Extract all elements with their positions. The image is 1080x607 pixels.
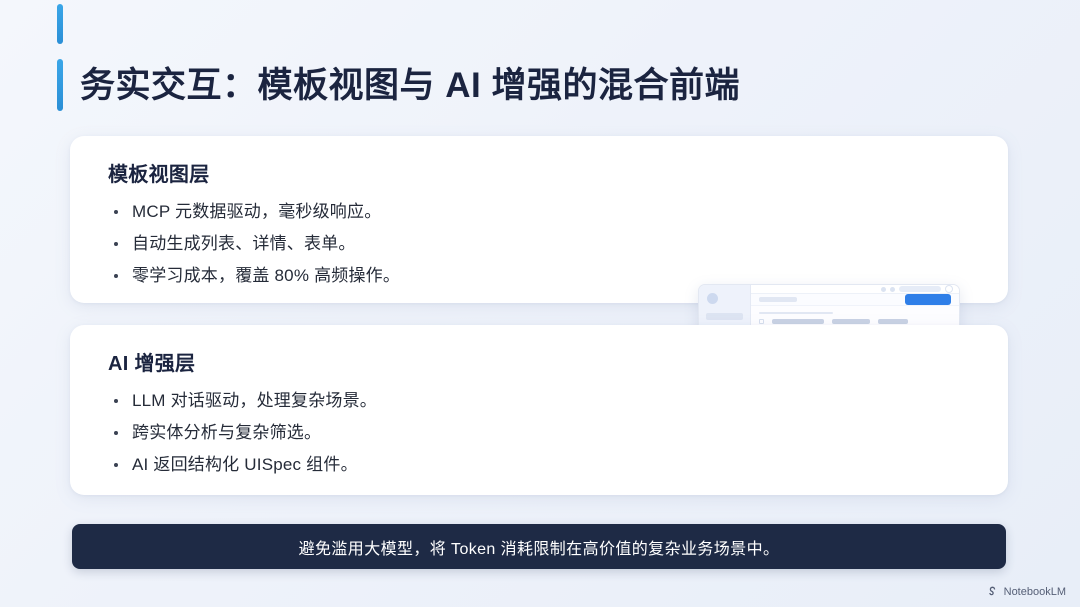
list-item: LLM 对话驱动，处理复杂场景。 <box>108 390 628 412</box>
avatar[interactable] <box>945 285 953 293</box>
column-header-owner <box>832 319 870 324</box>
search-icon[interactable] <box>881 287 886 292</box>
card-body: 模板视图层 MCP 元数据驱动，毫秒级响应。 自动生成列表、详情、表单。 零学习… <box>108 158 628 297</box>
footer-text: 避免滥用大模型，将 Token 消耗限制在高价值的复杂业务场景中。 <box>299 535 780 559</box>
search-input[interactable] <box>759 312 833 314</box>
column-header-status <box>878 319 908 324</box>
list-item: 自动生成列表、详情、表单。 <box>108 233 628 255</box>
card-template-view-layer: 模板视图层 MCP 元数据驱动，毫秒级响应。 自动生成列表、详情、表单。 零学习… <box>70 136 1008 303</box>
bullet-list: LLM 对话驱动，处理复杂场景。 跨实体分析与复杂筛选。 AI 返回结构化 UI… <box>108 390 628 476</box>
card-title: AI 增强层 <box>108 347 628 376</box>
footer-banner: 避免滥用大模型，将 Token 消耗限制在高价值的复杂业务场景中。 <box>72 524 1006 569</box>
column-header-name <box>772 319 824 324</box>
card-title: 模板视图层 <box>108 158 628 187</box>
user-name-label <box>899 286 941 292</box>
list-item: MCP 元数据驱动，毫秒级响应。 <box>108 201 628 223</box>
accent-bar-title <box>57 59 63 111</box>
breadcrumb-bar <box>751 294 959 306</box>
select-all-checkbox[interactable] <box>759 319 764 324</box>
watermark: NotebookLM <box>986 585 1066 598</box>
notebooklm-icon <box>986 585 999 598</box>
card-body: AI 增强层 LLM 对话驱动，处理复杂场景。 跨实体分析与复杂筛选。 AI 返… <box>108 347 628 486</box>
watermark-label: NotebookLM <box>1004 586 1066 598</box>
logo-icon <box>707 293 718 304</box>
bell-icon[interactable] <box>890 287 895 292</box>
create-button[interactable] <box>905 294 951 305</box>
list-item: AI 返回结构化 UISpec 组件。 <box>108 454 628 476</box>
card-ai-enhancement-layer: AI 增强层 LLM 对话驱动，处理复杂场景。 跨实体分析与复杂筛选。 AI 返… <box>70 325 1008 495</box>
bullet-list: MCP 元数据驱动，毫秒级响应。 自动生成列表、详情、表单。 零学习成本，覆盖 … <box>108 201 628 287</box>
list-item: 跨实体分析与复杂筛选。 <box>108 422 628 444</box>
accent-bar-top <box>57 4 63 44</box>
sidebar-item[interactable] <box>706 313 743 320</box>
list-item: 零学习成本，覆盖 80% 高频操作。 <box>108 265 628 287</box>
breadcrumb <box>759 297 797 302</box>
mockup-topbar <box>751 285 959 294</box>
page-title: 务实交互：模板视图与 AI 增强的混合前端 <box>80 62 980 110</box>
